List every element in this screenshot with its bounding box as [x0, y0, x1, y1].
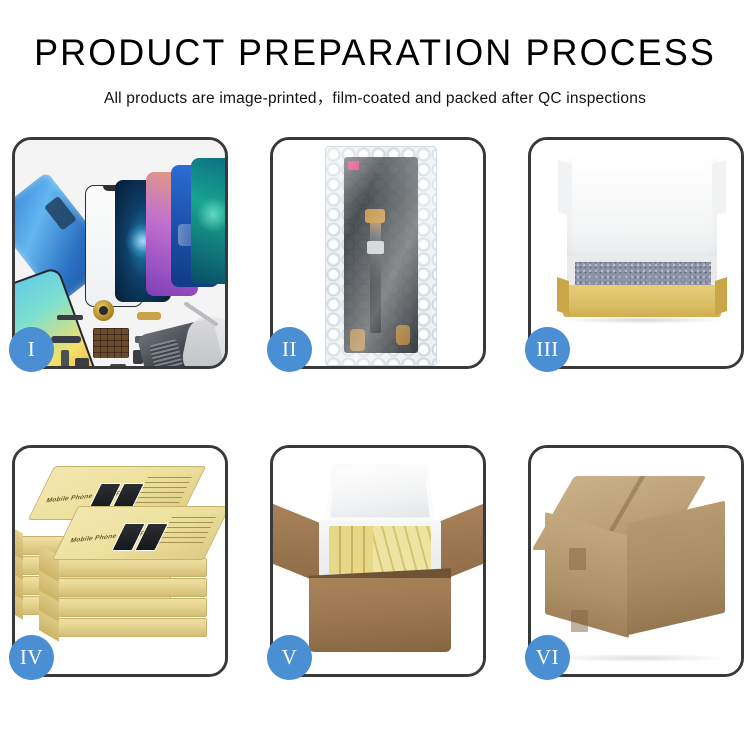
flex-cable-part-1 [57, 315, 83, 320]
screw-tray-part [93, 328, 129, 358]
flex-cable-tip [365, 209, 385, 223]
carton-front-panel [309, 578, 451, 652]
step-badge-2: II [267, 327, 312, 372]
step-badge-3: III [525, 327, 570, 372]
box-spec-lines-back [133, 477, 192, 507]
box-shadow [561, 316, 723, 324]
hand-holding-tool [179, 312, 225, 366]
flex-cable-part-2 [51, 336, 81, 343]
carton-right-face [627, 501, 725, 636]
step-badge-1: I [9, 327, 54, 372]
vibration-motor-part [93, 300, 114, 321]
flex-connector [367, 241, 384, 254]
carton-tab-upper [569, 548, 586, 570]
stacked-box-front-3 [55, 578, 207, 597]
yellow-box-tray [563, 285, 721, 317]
bubble-wrap-bag [325, 146, 437, 366]
connector-part-2 [75, 358, 89, 366]
page-subtitle: All products are image-printed，film-coat… [0, 86, 750, 108]
page-title: PRODUCT PREPARATION PROCESS [11, 34, 739, 73]
pink-label-sticker [348, 161, 359, 170]
camera-module-part [110, 364, 126, 366]
step-panel-5: V [270, 445, 486, 677]
step-badge-6: VI [525, 635, 570, 680]
step-panel-3: III [528, 137, 744, 369]
product-preparation-infographic: PRODUCT PREPARATION PROCESS All products… [0, 0, 750, 750]
step-panel-1: I [12, 137, 228, 369]
top-box-lid-front: Mobile Phone Spare Parts [52, 506, 225, 560]
process-steps-grid: I II [12, 137, 738, 677]
stacked-box-front-4 [55, 558, 207, 577]
gold-contact-part [137, 312, 161, 320]
white-box-lid [567, 158, 717, 263]
step-panel-2: II [270, 137, 486, 369]
step-panel-6: VI [528, 445, 744, 677]
phone-screen-teal [191, 158, 225, 284]
carton-tab-lower [571, 610, 588, 632]
carton-shadow [549, 654, 727, 662]
box-spec-lines-front [157, 517, 216, 547]
step-badge-5: V [267, 635, 312, 680]
step-panel-4: Mobile Phone Spare Parts Mobile Phone Sp… [12, 445, 228, 677]
camera-bracket-right [396, 325, 410, 345]
header: PRODUCT PREPARATION PROCESS All products… [0, 0, 750, 108]
step-badge-4: IV [9, 635, 54, 680]
wrapped-screen-assembly [344, 157, 418, 353]
foam-cooler-lid [325, 464, 434, 522]
screen-flex-cable [370, 215, 381, 333]
stacked-box-front-1 [55, 618, 207, 637]
stacked-box-front-2 [55, 598, 207, 617]
connector-part-1 [61, 350, 69, 366]
camera-bracket-left [350, 329, 365, 351]
packed-yellow-boxes-right [373, 526, 431, 574]
